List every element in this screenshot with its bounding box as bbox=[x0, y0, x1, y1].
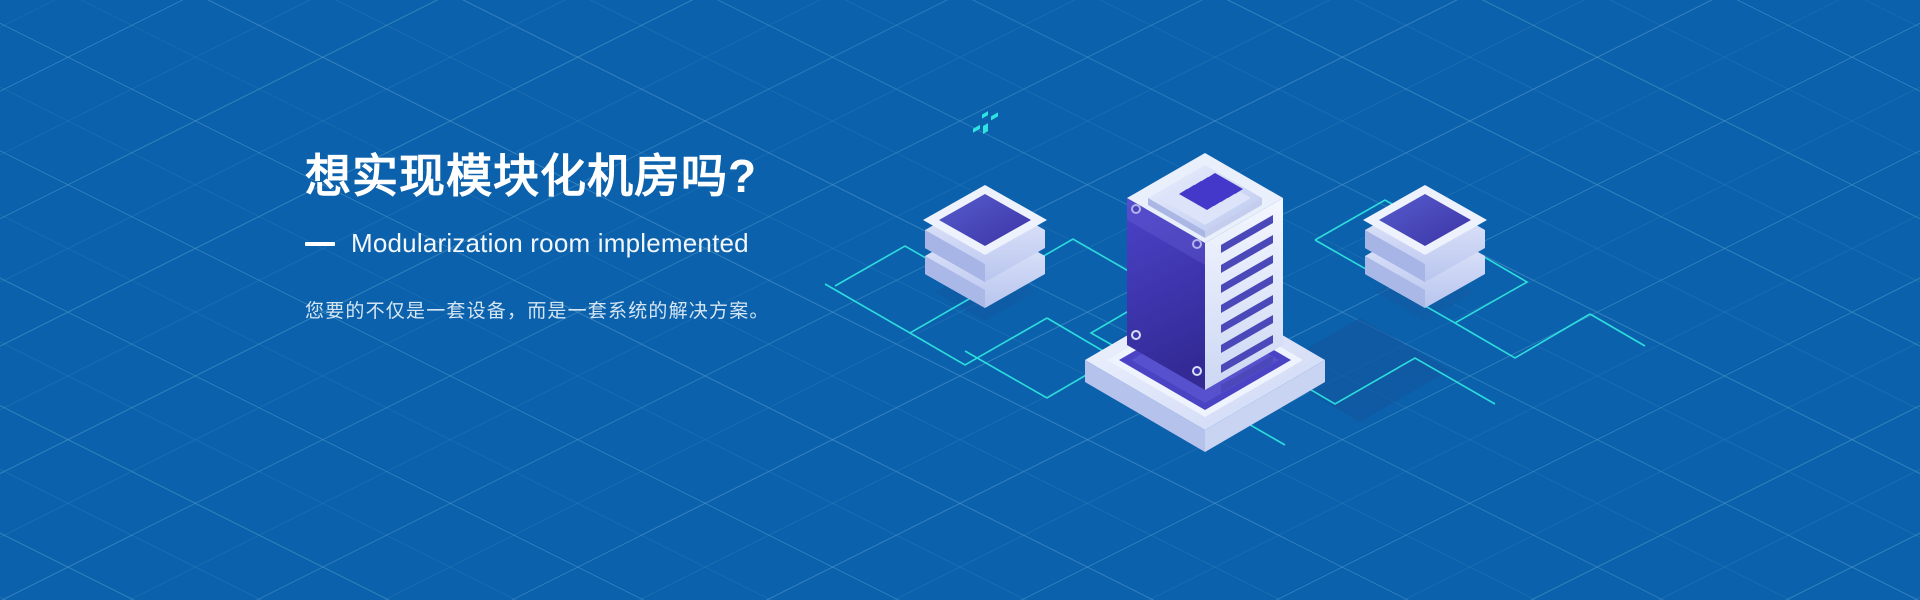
hero-banner: 想实现模块化机房吗? Modularization room implement… bbox=[0, 0, 1920, 600]
server-room-illustration bbox=[815, 60, 1655, 460]
server-tower bbox=[1085, 153, 1325, 452]
banner-copy: 想实现模块化机房吗? Modularization room implement… bbox=[305, 148, 925, 347]
page-title: 想实现模块化机房吗? bbox=[305, 148, 925, 204]
subtitle: Modularization room implemented bbox=[351, 228, 749, 259]
network-icon bbox=[973, 111, 998, 134]
chip-module-left bbox=[923, 111, 1047, 308]
chip-module-right bbox=[1363, 60, 1487, 308]
dash-decoration-icon bbox=[305, 242, 335, 246]
description-text: 您要的不仅是一套设备，而是一套系统的解决方案。 bbox=[305, 297, 925, 327]
subtitle-row: Modularization room implemented bbox=[305, 228, 925, 259]
